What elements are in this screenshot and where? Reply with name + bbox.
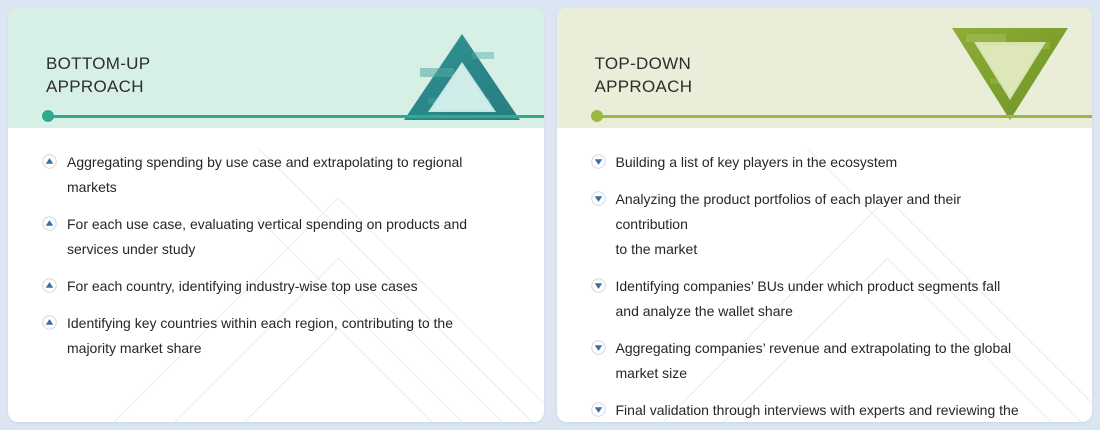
list-item: Analyzing the product portfolios of each…	[591, 187, 1067, 262]
panel-header-bottom-up: BOTTOM-UP APPROACH	[8, 8, 544, 128]
triangle-down-circle-icon	[591, 191, 606, 206]
list-item: For each country, identifying industry-w…	[42, 274, 518, 299]
accent-line	[53, 115, 544, 118]
list-item-text: For each use case, evaluating vertical s…	[67, 212, 467, 262]
panel-title-bottom-up: BOTTOM-UP APPROACH	[46, 52, 150, 98]
panel-header-top-down: TOP-DOWN APPROACH	[557, 8, 1093, 128]
accent-rule-top-down	[591, 109, 1093, 123]
list-item-text: Identifying companies’ BUs under which p…	[616, 274, 1001, 324]
approach-comparison-board: BOTTOM-UP APPROACH Aggregating spending …	[0, 0, 1100, 430]
list-item: Building a list of key players in the ec…	[591, 150, 1067, 175]
list-item-text: Final validation through interviews with…	[616, 398, 1019, 422]
list-item: Identifying key countries within each re…	[42, 311, 518, 361]
triangle-down-circle-icon	[591, 340, 606, 355]
list-item: Final validation through interviews with…	[591, 398, 1067, 422]
list-item-text: Building a list of key players in the ec…	[616, 150, 898, 175]
list-item-text: Aggregating companies’ revenue and extra…	[616, 336, 1012, 386]
list-item: For each use case, evaluating vertical s…	[42, 212, 518, 262]
list-item: Aggregating companies’ revenue and extra…	[591, 336, 1067, 386]
list-item: Aggregating spending by use case and ext…	[42, 150, 518, 200]
panel-title-top-down: TOP-DOWN APPROACH	[595, 52, 693, 98]
accent-rule-bottom-up	[42, 109, 544, 123]
triangle-down-circle-icon	[591, 402, 606, 417]
triangle-down-circle-icon	[591, 278, 606, 293]
list-item-text: Aggregating spending by use case and ext…	[67, 150, 462, 200]
bullet-list-top-down: Building a list of key players in the ec…	[557, 128, 1093, 422]
list-item: Identifying companies’ BUs under which p…	[591, 274, 1067, 324]
triangle-up-circle-icon	[42, 278, 57, 293]
bullet-list-bottom-up: Aggregating spending by use case and ext…	[8, 128, 544, 371]
list-item-text: For each country, identifying industry-w…	[67, 274, 418, 299]
list-item-text: Identifying key countries within each re…	[67, 311, 453, 361]
triangle-up-circle-icon	[42, 315, 57, 330]
panel-top-down: TOP-DOWN APPROACH Building a list of key…	[557, 8, 1093, 422]
list-item-text: Analyzing the product portfolios of each…	[616, 187, 962, 262]
triangle-up-circle-icon	[42, 154, 57, 169]
triangle-up-circle-icon	[42, 216, 57, 231]
triangle-down-circle-icon	[591, 154, 606, 169]
panel-bottom-up: BOTTOM-UP APPROACH Aggregating spending …	[8, 8, 544, 422]
accent-line	[602, 115, 1093, 118]
